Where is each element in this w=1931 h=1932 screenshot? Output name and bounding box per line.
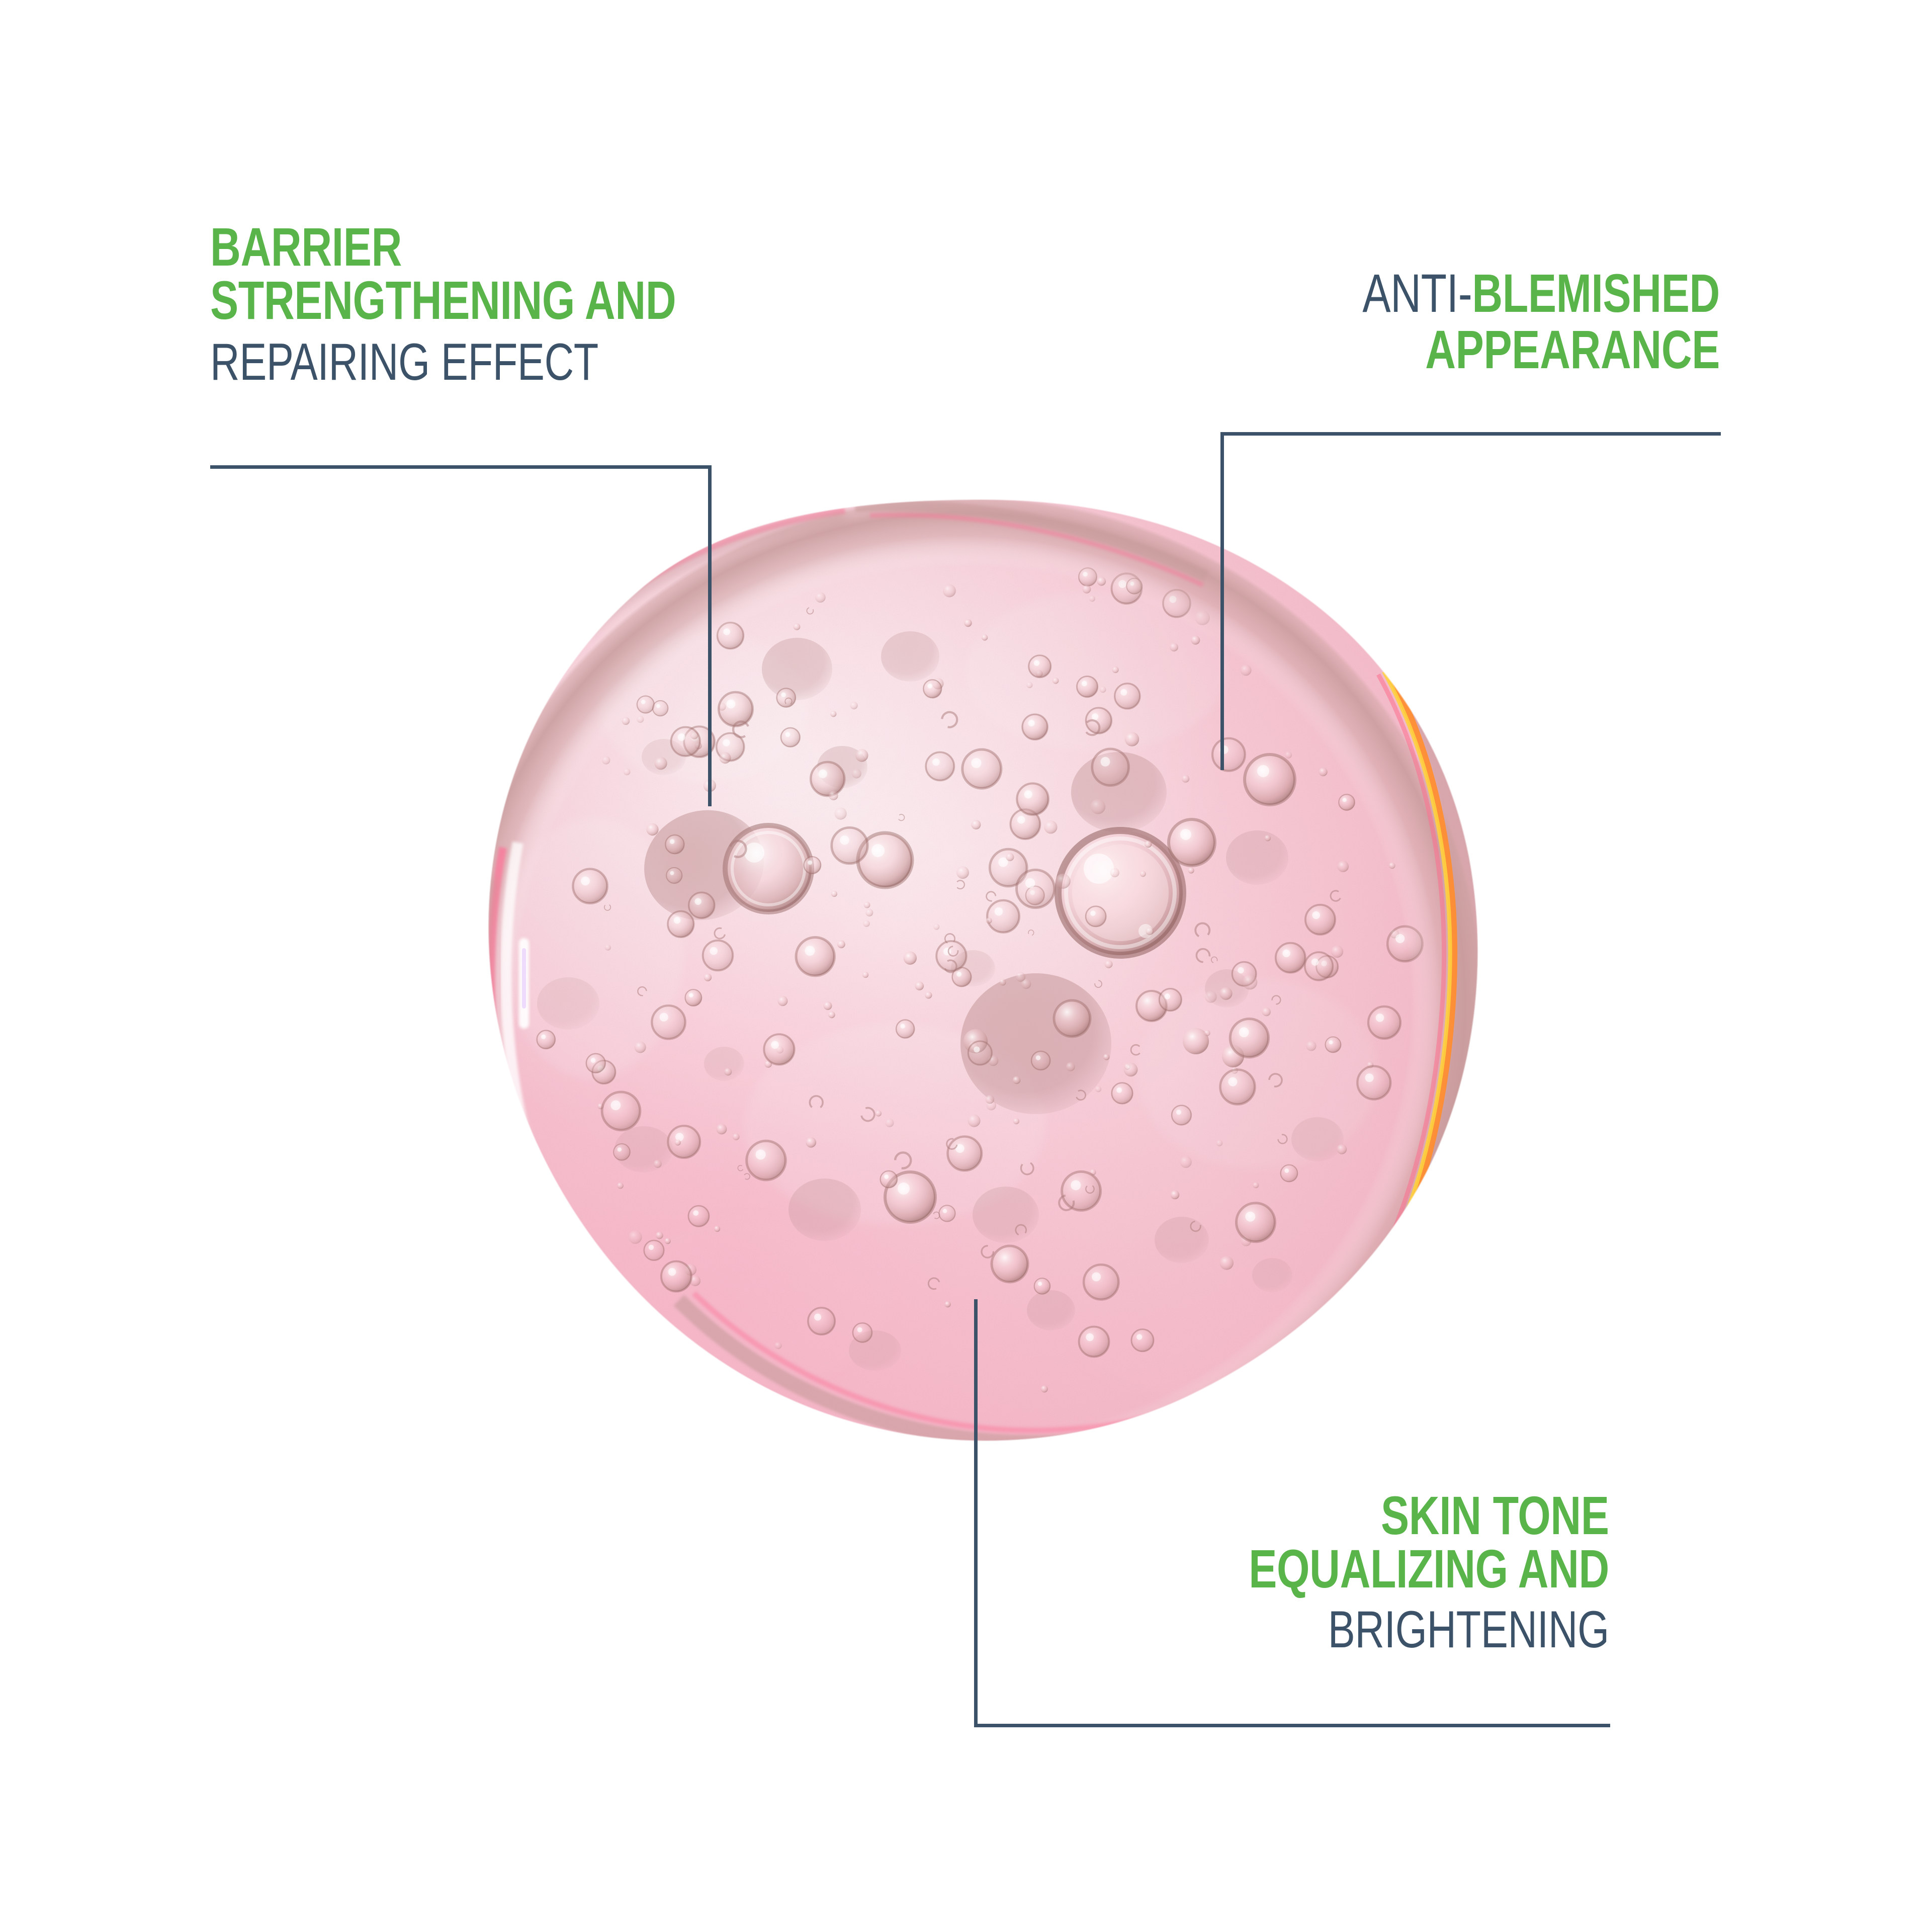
infographic-canvas: BARRIER STRENGTHENING AND REPAIRING EFFE…: [0, 0, 1931, 1932]
gel-droplet-svg: [443, 495, 1483, 1511]
connector-line-skin-horizontal: [974, 1724, 1610, 1727]
callout-line-1: BARRIER: [210, 220, 808, 274]
callout-line-3: REPAIRING EFFECT: [210, 337, 808, 388]
callout-barrier-strengthening: BARRIER STRENGTHENING AND REPAIRING EFFE…: [210, 220, 808, 388]
callout-skin-tone-equalizing: SKIN TONE EQUALIZING AND BRIGHTENING: [1147, 1489, 1609, 1656]
gel-droplet-image: [443, 495, 1483, 1511]
callout-line-2: EQUALIZING AND: [1147, 1542, 1609, 1595]
callout-line-1: ANTI-BLEMISHED: [1262, 267, 1720, 320]
connector-line-anti-vertical: [1220, 432, 1224, 770]
callout-line-3: BRIGHTENING: [1147, 1605, 1609, 1656]
connector-line-barrier-horizontal: [210, 465, 711, 469]
callout-line-1: SKIN TONE: [1147, 1489, 1609, 1542]
connector-line-anti-horizontal: [1220, 432, 1721, 436]
connector-line-skin-vertical: [974, 1299, 978, 1727]
callout-line-2: APPEARANCE: [1262, 323, 1720, 376]
connector-line-barrier-vertical: [708, 465, 712, 806]
callout-line-2: STRENGTHENING AND: [210, 274, 808, 327]
callout-anti-blemished: ANTI-BLEMISHED APPEARANCE: [1262, 267, 1720, 376]
